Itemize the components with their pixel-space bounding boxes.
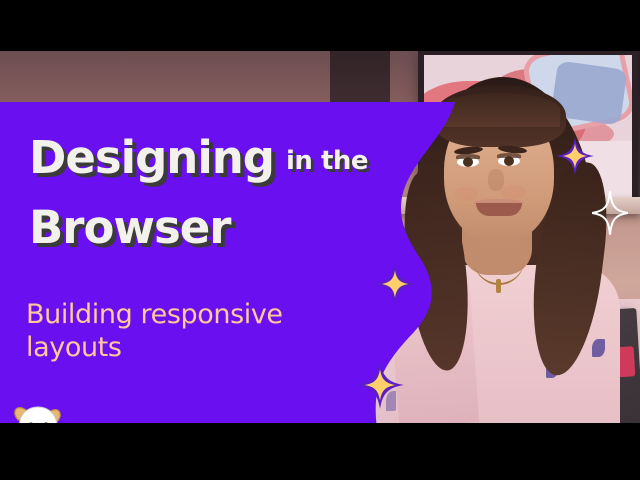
letterbox-top <box>0 0 640 51</box>
subtitle: Building responsive layouts <box>26 299 366 365</box>
title-line-2: Browser <box>29 205 230 250</box>
title-block: Designing in the Browser Building respon… <box>0 102 420 423</box>
title-line-1: Designing <box>29 135 274 180</box>
sparkle-white-right-icon <box>592 191 628 235</box>
video-frame: 6 CSS JS Erpxiement CENTERED <box>0 0 640 480</box>
dog-mascot-logo-icon <box>5 400 71 423</box>
video-content: 6 CSS JS Erpxiement CENTERED <box>0 51 640 423</box>
letterbox-bottom <box>0 423 640 480</box>
sparkle-gold-upper-right-icon <box>556 137 594 175</box>
title-small-text: in the <box>286 146 368 176</box>
